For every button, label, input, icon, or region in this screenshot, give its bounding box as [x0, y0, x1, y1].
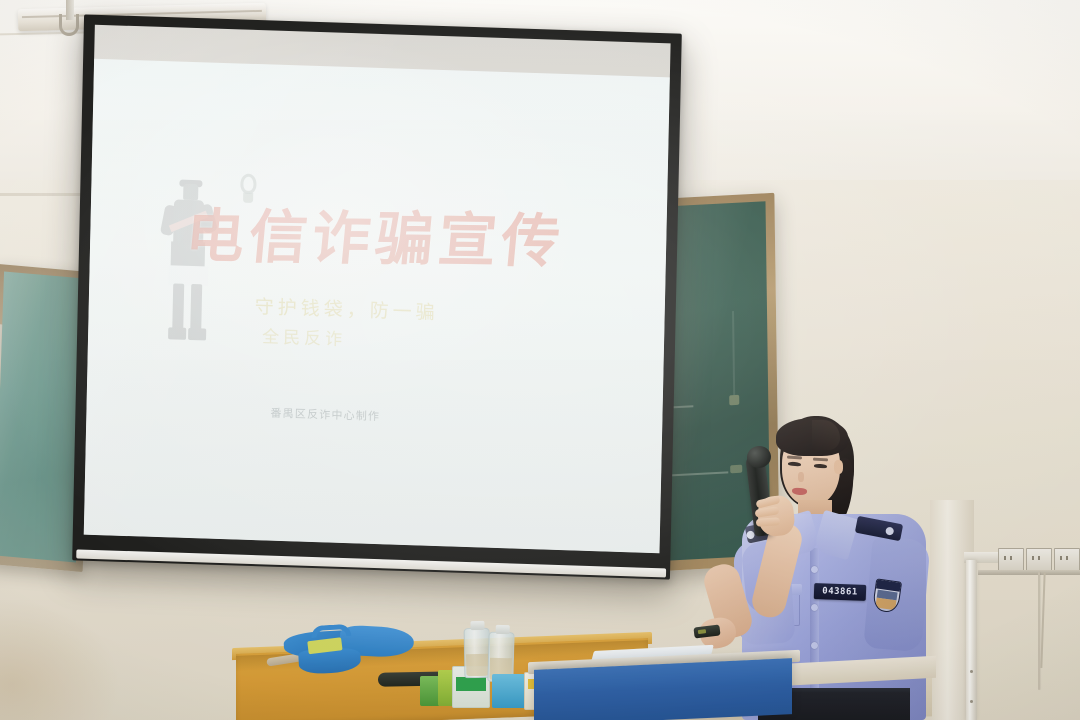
bag-handle — [311, 624, 352, 638]
projection-screen[interactable]: 电信诈骗宣传 守护钱袋，防一骗 全民反诈 番禺区反诈中心制作 — [72, 14, 682, 579]
slide-title: 电信诈骗宣传 — [183, 207, 549, 271]
bottle-liquid — [466, 654, 488, 676]
electrical-conduit — [966, 560, 977, 720]
water-bottle[interactable] — [464, 628, 491, 678]
roller-mount-hook — [59, 14, 79, 36]
lightbulb-icon — [237, 173, 260, 204]
power-outlet[interactable] — [1026, 548, 1052, 572]
hanging-cable — [1038, 572, 1040, 690]
classroom-presentation-photo: 电信诈骗宣传 守护钱袋，防一骗 全民反诈 番禺区反诈中心制作 — [0, 0, 1080, 720]
blue-tote-bag[interactable] — [283, 623, 415, 672]
slide-subtitle-line-1: 守护钱袋，防一骗 — [254, 292, 439, 325]
nose — [798, 472, 804, 482]
green-box[interactable] — [420, 676, 440, 706]
finger — [756, 517, 780, 527]
ear — [834, 460, 843, 474]
bottle-cap — [496, 625, 510, 634]
projection-screen-surface: 电信诈骗宣传 守护钱袋，防一骗 全民反诈 番禺区反诈中心制作 — [84, 25, 671, 553]
slide-credit: 番禺区反诈中心制作 — [270, 405, 380, 425]
bottle-cap — [470, 621, 484, 630]
slide-subtitle-line-2: 全民反诈 — [262, 322, 347, 350]
power-outlet[interactable] — [998, 548, 1024, 572]
power-outlet-panel[interactable] — [998, 548, 1080, 572]
power-outlet[interactable] — [1054, 548, 1080, 572]
teal-box[interactable] — [492, 674, 526, 708]
blue-podium — [534, 658, 792, 720]
eye — [814, 464, 827, 469]
wall-stain — [0, 600, 120, 720]
outlet-mounting-rail — [978, 570, 1080, 575]
presentation-slide: 电信诈骗宣传 守护钱袋，防一骗 全民反诈 番禺区反诈中心制作 — [84, 59, 670, 553]
